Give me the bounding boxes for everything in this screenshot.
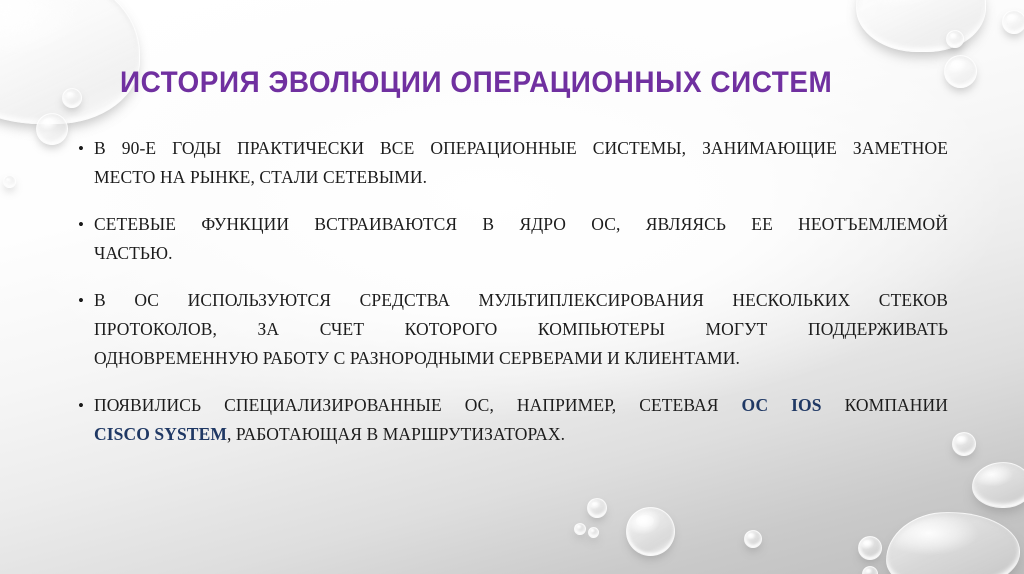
slide-canvas: История эволюции операционных систем • В… [0,0,1024,574]
bullet-line: одновременную работу с разнородными серв… [94,344,948,373]
water-droplet-icon [952,432,976,456]
bullet-line: протоколов, за счет которого компьютеры … [94,315,948,344]
water-droplet-icon [3,175,16,188]
bullet-list: • В 90-е годы практически все операционн… [72,134,948,467]
water-droplet-icon [626,507,675,556]
water-droplet-icon [587,498,607,518]
bullet-text-segment: , работающая в маршрутизаторах. [227,424,565,444]
bullet-text-segment: компании [822,395,948,415]
water-droplet-icon [944,55,977,88]
bullet-marker: • [72,210,94,239]
highlighted-term-ios: ОС IOS [742,395,822,415]
list-item: • Появились специализированные ОС, напри… [72,391,948,449]
bullet-text: Появились специализированные ОС, наприме… [94,391,948,449]
water-droplet-icon [36,113,68,145]
water-droplet-icon [858,536,882,560]
list-item: • Сетевые функции встраиваются в ядро ОС… [72,210,948,268]
water-droplet-icon [886,512,1020,574]
bullet-marker: • [72,134,94,163]
water-droplet-icon [744,530,762,548]
bullet-marker: • [72,391,94,420]
list-item: • В 90-е годы практически все операционн… [72,134,948,192]
page-title: История эволюции операционных систем [120,64,864,102]
bullet-text: Сетевые функции встраиваются в ядро ОС, … [94,210,948,268]
water-droplet-icon [588,527,599,538]
bullet-marker: • [72,286,94,315]
water-droplet-icon [856,0,986,52]
bullet-line: Сетевые функции встраиваются в ядро ОС, … [94,210,948,239]
water-droplet-icon [62,88,82,108]
bullet-line: Появились специализированные ОС, наприме… [94,391,948,420]
water-droplet-icon [574,523,586,535]
list-item: • В ОС используются средства мультиплекс… [72,286,948,373]
bullet-line: место на рынке, стали сетевыми. [94,163,948,192]
water-droplet-icon [1002,10,1024,34]
bullet-line: частью. [94,239,948,268]
bullet-line: В 90-е годы практически все операционные… [94,134,948,163]
water-droplet-icon [0,0,140,124]
water-droplet-icon [972,462,1024,508]
bullet-text: В ОС используются средства мультиплексир… [94,286,948,373]
highlighted-term-cisco-system: CISCO SYSTEM [94,424,227,444]
water-droplet-icon [862,566,878,574]
bullet-text-segment: Появились специализированные ОС, наприме… [94,395,742,415]
water-droplet-icon [946,30,964,48]
bullet-text: В 90-е годы практически все операционные… [94,134,948,192]
bullet-line: CISCO SYSTEM, работающая в маршрутизатор… [94,420,948,449]
bullet-line: В ОС используются средства мультиплексир… [94,286,948,315]
